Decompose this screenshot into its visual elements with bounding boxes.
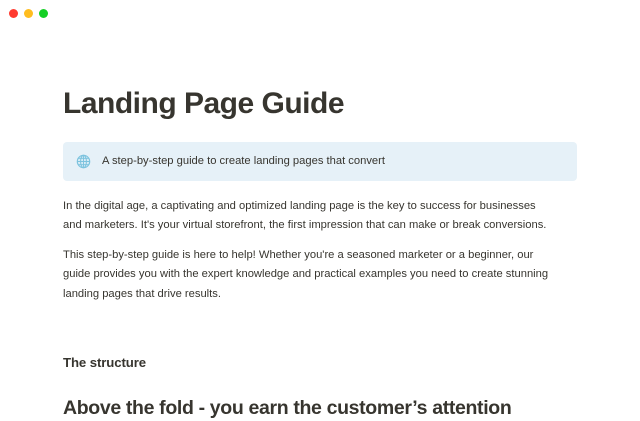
globe-icon xyxy=(76,154,91,169)
heading-above-the-fold[interactable]: Above the fold - you earn the customer’s… xyxy=(63,371,578,421)
callout-text: A step-by-step guide to create landing p… xyxy=(102,153,385,169)
minimize-window-button[interactable] xyxy=(24,9,33,18)
maximize-window-button[interactable] xyxy=(39,9,48,18)
document-content: Landing Page Guide A step-by-step guide … xyxy=(63,26,578,421)
heading-the-structure[interactable]: The structure xyxy=(63,304,578,371)
callout-block[interactable]: A step-by-step guide to create landing p… xyxy=(63,142,577,180)
page-title[interactable]: Landing Page Guide xyxy=(63,26,578,121)
paragraph-intro[interactable]: In the digital age, a captivating and op… xyxy=(63,197,550,236)
paragraph-guide[interactable]: This step-by-step guide is here to help!… xyxy=(63,246,550,304)
document-page: Landing Page Guide A step-by-step guide … xyxy=(0,26,640,400)
close-window-button[interactable] xyxy=(9,9,18,18)
app-window: Landing Page Guide A step-by-step guide … xyxy=(0,0,640,400)
traffic-lights xyxy=(9,9,48,18)
window-titlebar xyxy=(0,0,640,26)
